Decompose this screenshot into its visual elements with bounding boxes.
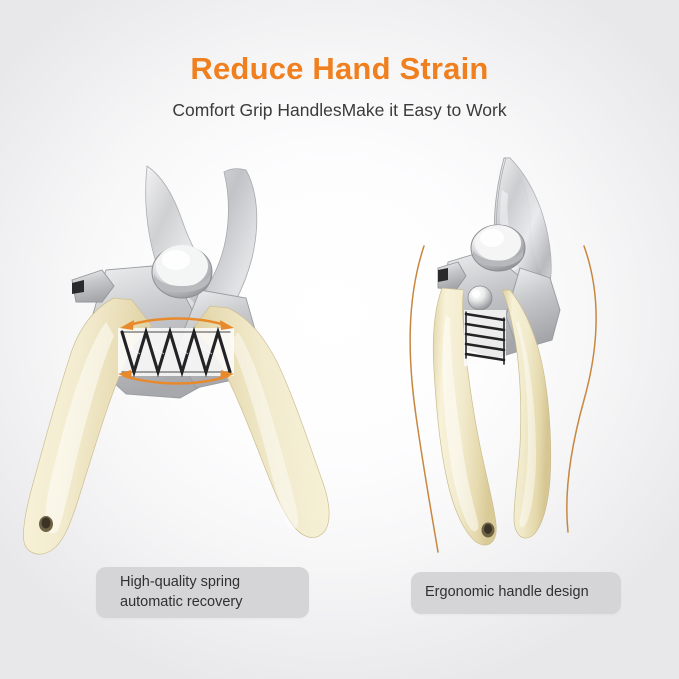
- infographic-canvas: Reduce Hand Strain Comfort Grip HandlesM…: [0, 0, 679, 679]
- pivot-bolt: [152, 245, 212, 298]
- open-shears-illustration: [10, 150, 350, 560]
- closed-shears-illustration: [392, 150, 679, 560]
- product-image-closed-shears: [392, 150, 679, 560]
- caption-ergonomic: Ergonomic handle design: [411, 572, 621, 614]
- page-subtitle: Comfort Grip HandlesMake it Easy to Work: [0, 100, 679, 121]
- page-title: Reduce Hand Strain: [0, 52, 679, 86]
- coil-spring-compressed: [464, 310, 506, 366]
- coil-spring: [118, 328, 234, 376]
- pivot-bolt: [471, 225, 525, 271]
- product-image-open-shears: [10, 150, 350, 560]
- caption-ergonomic-text: Ergonomic handle design: [425, 583, 589, 602]
- caption-spring: High-quality spring automatic recovery: [96, 567, 309, 618]
- caption-spring-text: High-quality spring automatic recovery: [120, 573, 243, 612]
- header-block: Reduce Hand Strain Comfort Grip HandlesM…: [0, 52, 679, 121]
